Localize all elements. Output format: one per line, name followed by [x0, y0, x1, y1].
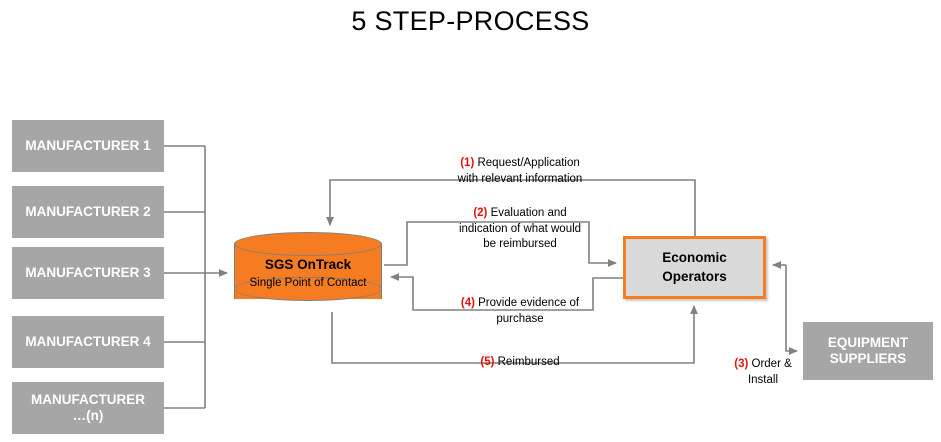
step-number-4: (4) — [461, 297, 475, 309]
step-label-4: (4) Provide evidence ofpurchase — [430, 296, 610, 327]
manufacturer-box-5: MANUFACTURER…(n) — [12, 382, 164, 434]
sgs-ontrack-text: SGS OnTrack Single Point of Contact — [234, 256, 382, 292]
step-number-1: (1) — [460, 157, 474, 169]
step-text-1: Request/Applicationwith relevant informa… — [458, 157, 583, 185]
manufacturer-box-4: MANUFACTURER 4 — [12, 316, 164, 368]
step-number-2: (2) — [473, 207, 487, 219]
sgs-ontrack-title: SGS OnTrack — [265, 258, 351, 273]
manufacturer-box-1: MANUFACTURER 1 — [12, 120, 164, 172]
equipment-suppliers-box: EQUIPMENTSUPPLIERS — [803, 322, 933, 380]
equipment-suppliers-label: EQUIPMENTSUPPLIERS — [828, 335, 908, 368]
economic-operators-label: EconomicOperators — [662, 249, 727, 285]
economic-operators-box: EconomicOperators — [623, 236, 766, 299]
manufacturer-label-1: MANUFACTURER 1 — [25, 138, 150, 154]
step-text-3: Order &Install — [748, 358, 792, 386]
step-label-2: (2) Evaluation andindication of what wou… — [438, 206, 602, 253]
sgs-ontrack-title-text: SGS OnTrack — [265, 257, 351, 272]
step-number-5: (5) — [480, 356, 494, 368]
cylinder-top-icon — [234, 232, 382, 256]
manufacturer-label-4: MANUFACTURER 4 — [25, 334, 150, 350]
manufacturer-label-2: MANUFACTURER 2 — [25, 204, 150, 220]
step-label-1: (1) Request/Applicationwith relevant inf… — [430, 156, 610, 187]
step-number-3: (3) — [734, 358, 748, 370]
manufacturer-box-2: MANUFACTURER 2 — [12, 186, 164, 238]
page-title: 5 STEP-PROCESS — [0, 6, 941, 37]
step-text-5: Reimbursed — [498, 356, 560, 368]
sgs-ontrack-subtitle: Single Point of Contact — [234, 276, 382, 292]
step-text-4: Provide evidence ofpurchase — [478, 297, 579, 325]
manufacturer-label-5: MANUFACTURER…(n) — [31, 392, 145, 425]
step-label-5: (5) Reimbursed — [440, 355, 600, 371]
diagram-canvas: 5 STEP-PROCESS MANUFACTURER 1 MANUFACTUR… — [0, 0, 941, 442]
sgs-ontrack-cylinder: SGS OnTrack Single Point of Contact — [234, 232, 382, 310]
spellcheck-squiggle-icon — [302, 271, 354, 275]
manufacturer-box-3: MANUFACTURER 3 — [12, 247, 164, 299]
step-label-3: (3) Order &Install — [718, 357, 808, 388]
manufacturer-label-3: MANUFACTURER 3 — [25, 265, 150, 281]
line-step-3-to-suppliers — [786, 265, 797, 351]
